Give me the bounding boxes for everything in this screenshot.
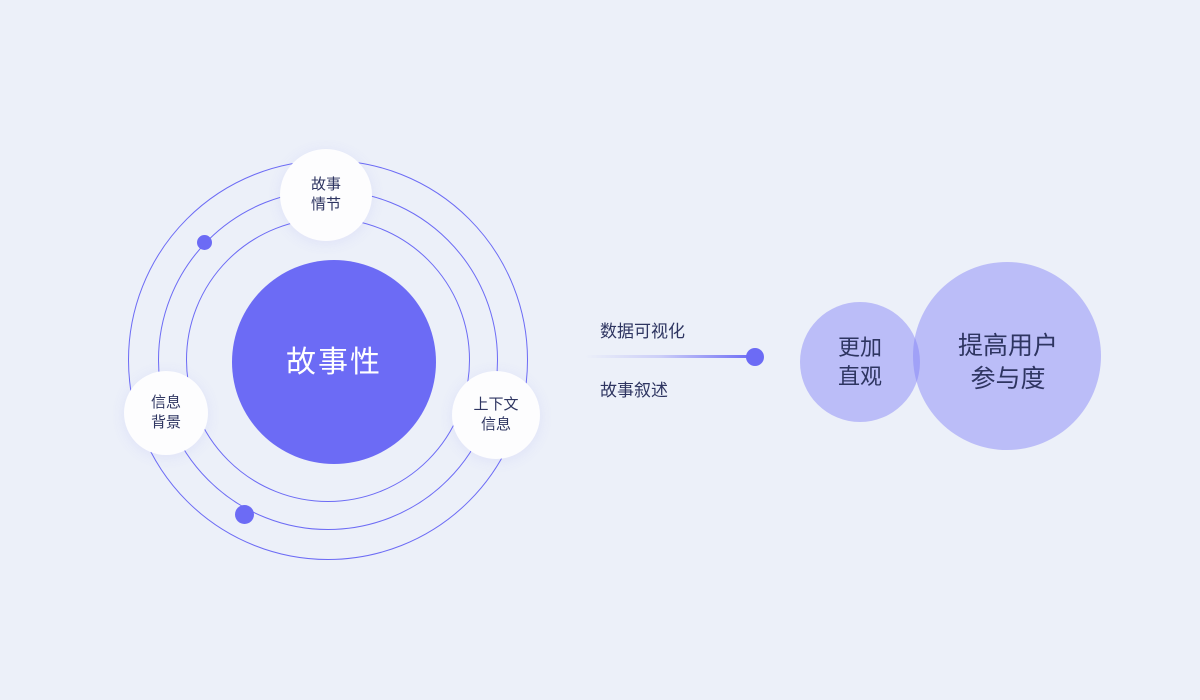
node-bubble-contextual-information[interactable]: 上下文 信息 [452,371,540,459]
venn-diagram: 更加 直观 提高用户 参与度 [798,258,1103,458]
venn-label-increase-user-engagement: 提高用户 参与度 [928,330,1088,395]
node-label-line2: 情节 [311,195,341,215]
orbit-cluster: 故事性 故事 情节 信息 背景 上下文 信息 [128,160,528,560]
connector-line [585,355,753,358]
venn-label-line2: 参与度 [928,363,1088,396]
node-bubble-information-background-label: 信息 背景 [151,393,181,434]
connector-group: 数据可视化 故事叙述 [580,300,775,420]
connector-label-storytelling: 故事叙述 [600,376,668,401]
node-label-line1: 信息 [151,393,181,413]
node-bubble-information-background[interactable]: 信息 背景 [124,371,208,455]
venn-label-line2: 直观 [816,363,904,392]
node-label-line1: 故事 [311,175,341,195]
node-label-line2: 信息 [473,415,518,435]
orbit-marker-dot-upper [197,235,212,250]
venn-label-line1: 更加 [816,334,904,363]
diagram-canvas: 故事性 故事 情节 信息 背景 上下文 信息 数据可视化 故事叙述 [0,0,1200,700]
connector-arrow-dot-icon [746,348,764,366]
orbit-marker-dot-lower [235,505,254,524]
node-label-line2: 背景 [151,413,181,433]
core-label: 故事性 [286,343,382,382]
venn-label-more-intuitive: 更加 直观 [816,334,904,391]
node-label-line1: 上下文 [473,395,518,415]
node-bubble-story-plot[interactable]: 故事 情节 [280,149,372,241]
connector-label-data-visualization: 数据可视化 [600,317,685,342]
node-bubble-story-plot-label: 故事 情节 [311,175,341,216]
venn-label-line1: 提高用户 [928,330,1088,363]
node-bubble-contextual-information-label: 上下文 信息 [473,395,518,436]
core-circle[interactable]: 故事性 [232,260,436,464]
